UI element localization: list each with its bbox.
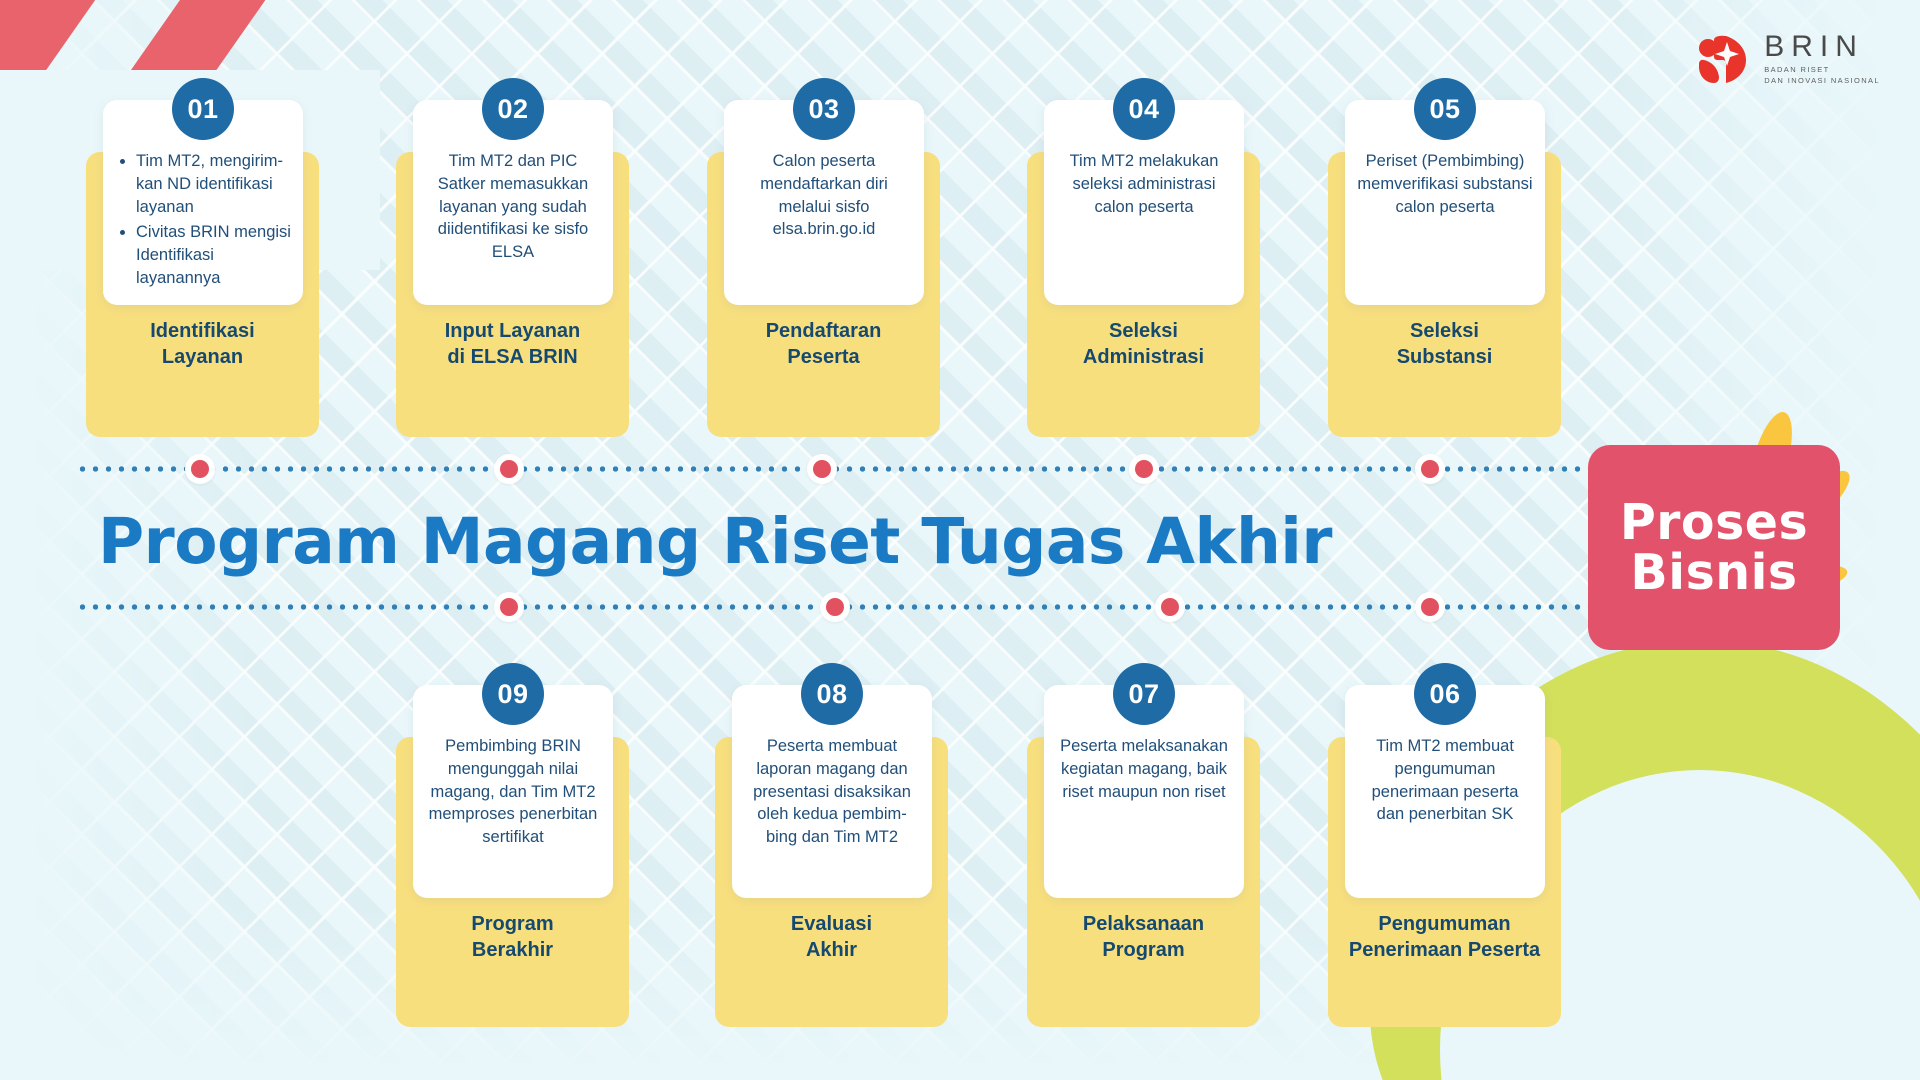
card-white-panel: 02 Tim MT2 dan PIC Satker memasukkan lay… xyxy=(413,100,613,305)
node-dot xyxy=(813,460,831,478)
step-label: Pengumuman Penerimaan Peserta xyxy=(1328,912,1561,963)
step-label-line2: Program xyxy=(1027,938,1260,964)
node-dot xyxy=(1161,598,1179,616)
brin-tagline-line1: BADAN RISET xyxy=(1764,65,1880,75)
card-white-panel: 08 Peserta membuat laporan magang dan pr… xyxy=(732,685,932,898)
step-label-line1: Identifikasi xyxy=(86,319,319,345)
connector-node-4 xyxy=(1129,454,1159,484)
step-label-line1: Program xyxy=(396,912,629,938)
badge-box: Proses Bisnis xyxy=(1588,445,1840,650)
node-dot xyxy=(1421,598,1439,616)
card-white-panel: 06 Tim MT2 membuat pengumuman penerimaan… xyxy=(1345,685,1545,898)
brin-logo: BRIN BADAN RISET DAN INOVASI NASIONAL xyxy=(1692,30,1880,88)
step-label-line2: di ELSA BRIN xyxy=(396,345,629,371)
step-label-line1: Pendaftaran xyxy=(707,319,940,345)
step-number-badge: 04 xyxy=(1113,78,1175,140)
node-dot xyxy=(1135,460,1153,478)
step-label-line1: Seleksi xyxy=(1027,319,1260,345)
step-label: Program Berakhir xyxy=(396,912,629,963)
step-label: Input Layanan di ELSA BRIN xyxy=(396,319,629,370)
step-label-line1: Evaluasi xyxy=(715,912,948,938)
step-label-line2: Akhir xyxy=(715,938,948,964)
connector-node-8 xyxy=(820,592,850,622)
step-number-badge: 03 xyxy=(793,78,855,140)
proses-bisnis-badge: Proses Bisnis xyxy=(1588,425,1840,650)
infographic-canvas: BRIN BADAN RISET DAN INOVASI NASIONAL 01… xyxy=(0,0,1920,1080)
step-bullet: Tim MT2, mengirim-kan ND identifikasi la… xyxy=(136,150,293,218)
card-white-panel: 03 Calon peserta mendaftarkan diri melal… xyxy=(724,100,924,305)
badge-line1: Proses xyxy=(1620,498,1808,548)
badge-line2: Bisnis xyxy=(1630,548,1797,598)
step-number-badge: 01 xyxy=(172,78,234,140)
step-label-line1: Seleksi xyxy=(1328,319,1561,345)
card-white-panel: 09 Pembimbing BRIN mengunggah nilai maga… xyxy=(413,685,613,898)
node-dot xyxy=(500,598,518,616)
connector-node-2 xyxy=(494,454,524,484)
card-white-panel: 04 Tim MT2 melakukan seleksi administras… xyxy=(1044,100,1244,305)
connector-node-7 xyxy=(1155,592,1185,622)
step-label: Identifikasi Layanan xyxy=(86,319,319,370)
step-number-badge: 09 xyxy=(482,663,544,725)
connector-node-1 xyxy=(185,454,215,484)
connector-line-top xyxy=(76,466,1606,472)
card-white-panel: 05 Periset (Pembimbing) memverifikasi su… xyxy=(1345,100,1545,305)
step-label-line1: Input Layanan xyxy=(396,319,629,345)
connector-node-6 xyxy=(1415,592,1445,622)
step-label-line2: Berakhir xyxy=(396,938,629,964)
node-dot xyxy=(1421,460,1439,478)
step-label: Seleksi Administrasi xyxy=(1027,319,1260,370)
card-white-panel: 07 Peserta melaksanakan kegiatan magang,… xyxy=(1044,685,1244,898)
step-label: Pendaftaran Peserta xyxy=(707,319,940,370)
step-label-line2: Administrasi xyxy=(1027,345,1260,371)
step-label-line1: Pengumuman xyxy=(1328,912,1561,938)
brin-logo-text: BRIN BADAN RISET DAN INOVASI NASIONAL xyxy=(1764,32,1880,85)
page-title: Program Magang Riset Tugas Akhir xyxy=(0,505,1430,578)
step-label-line2: Layanan xyxy=(86,345,319,371)
node-dot xyxy=(826,598,844,616)
step-label: Evaluasi Akhir xyxy=(715,912,948,963)
step-number-badge: 06 xyxy=(1414,663,1476,725)
step-label-line1: Pelaksanaan xyxy=(1027,912,1260,938)
step-label-line2: Substansi xyxy=(1328,345,1561,371)
connector-node-9 xyxy=(494,592,524,622)
step-label: Seleksi Substansi xyxy=(1328,319,1561,370)
node-dot xyxy=(191,460,209,478)
step-number-badge: 05 xyxy=(1414,78,1476,140)
card-white-panel: 01 Tim MT2, mengirim-kan ND identifikasi… xyxy=(103,100,303,305)
step-number-badge: 02 xyxy=(482,78,544,140)
step-number-badge: 08 xyxy=(801,663,863,725)
connector-node-5 xyxy=(1415,454,1445,484)
connector-node-3 xyxy=(807,454,837,484)
node-dot xyxy=(500,460,518,478)
step-number-badge: 07 xyxy=(1113,663,1175,725)
step-label-line2: Peserta xyxy=(707,345,940,371)
step-bullet: Civitas BRIN mengisi Identifikasi layana… xyxy=(136,221,293,289)
brin-tagline-line2: DAN INOVASI NASIONAL xyxy=(1764,76,1880,86)
brin-logo-icon xyxy=(1692,30,1750,88)
step-label: Pelaksanaan Program xyxy=(1027,912,1260,963)
brin-wordmark: BRIN xyxy=(1764,32,1880,62)
step-label-line2: Penerimaan Peserta xyxy=(1328,938,1561,964)
